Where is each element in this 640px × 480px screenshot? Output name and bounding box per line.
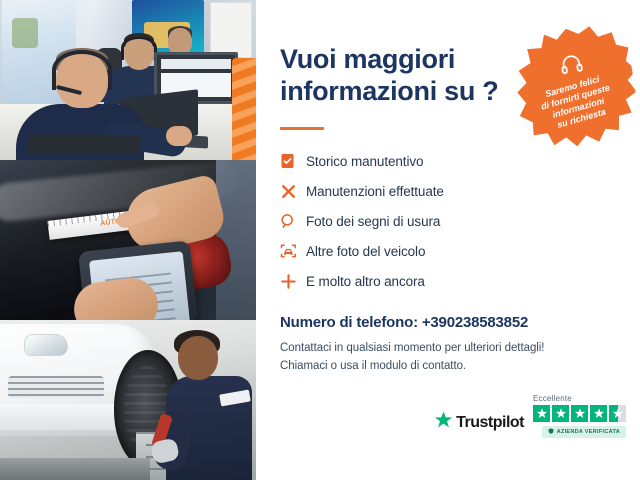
star-filled-1 [533,405,550,422]
star-filled-4 [590,405,607,422]
car-headlight [24,334,68,356]
tools-cross-icon [280,183,306,200]
star-filled-2 [552,405,569,422]
list-item-label: Manutenzioni effettuate [306,184,444,199]
agent-one-headset-icon [52,50,112,90]
content-panel: Vuoi maggiori informazioni su ? Storico … [256,0,640,480]
list-item: E molto altro ancora [280,267,640,296]
vehicle-inspection-photo: AUTOHERO [0,160,256,320]
trustpilot-rating-label: Eccellente [533,394,572,403]
list-item-label: Altre foto del veicolo [306,244,425,259]
list-item-label: Foto dei segni di usura [306,214,440,229]
trustpilot-logo: Trustpilot [434,411,524,438]
agent-one-hand [166,126,192,146]
status-badge: AZIENDA VERIFICATA [542,426,626,438]
plus-icon [280,273,306,290]
headline-line-2: informazioni su ? [280,76,530,108]
car-bumper [0,404,130,430]
trustpilot-widget[interactable]: Trustpilot Eccellente [434,394,626,438]
feature-list: Storico manutentivo Manutenzioni effettu… [280,147,640,296]
photo-column: AUTOHERO [0,0,256,480]
star-filled-3 [571,405,588,422]
keyboard [26,136,142,154]
list-item: Manutenzioni effettuate [280,177,640,206]
orange-display-stand [232,58,256,160]
verified-label: AZIENDA VERIFICATA [557,429,620,435]
trustpilot-rating: Eccellente [533,394,626,438]
car-grille [8,376,104,398]
phone-number[interactable]: +390238583852 [422,314,528,331]
page-title: Vuoi maggiori informazioni su ? [280,44,530,108]
trustpilot-star-icon [434,411,453,434]
callout-badge: Saremo felici di fornirti queste informa… [507,19,640,154]
mechanic-head [178,336,218,380]
trustpilot-wordmark: Trustpilot [456,414,524,432]
headline-line-1: Vuoi maggiori [280,44,530,76]
phone-line: Numero di telefono: +390238583852 [280,314,640,331]
headset-icon [559,52,585,80]
trustpilot-stars [533,405,626,422]
magnifier-icon [280,213,306,229]
subcopy-line-2: Chiamaci o usa il modulo di contatto. [280,358,640,376]
verified-shield-icon [548,428,554,436]
list-item: Foto dei segni di usura [280,207,640,236]
subcopy-line-1: Contattaci in qualsiasi momento per ulte… [280,340,640,358]
star-half-5 [609,405,626,422]
car-lift-ramp [0,458,150,480]
contact-subcopy: Contattaci in qualsiasi momento per ulte… [280,340,640,376]
call-center-agents-photo [0,0,256,160]
badge-text: Saremo felici di fornirti queste informa… [537,71,617,133]
agent-two-headset-icon [121,36,157,60]
document-check-icon [280,153,306,169]
mechanic-tire-photo [0,320,256,480]
badge-content: Saremo felici di fornirti queste informa… [507,19,640,154]
phone-label: Numero di telefono: [280,314,418,331]
car-scan-icon [280,243,306,259]
wall-poster-white [210,2,252,58]
list-item-label: Storico manutentivo [306,154,423,169]
list-item: Altre foto del veicolo [280,237,640,266]
list-item-label: E molto altro ancora [306,274,425,289]
promo-banner: AUTOHERO [0,0,640,480]
title-underline-rule [280,127,324,130]
list-item: Storico manutentivo [280,147,640,176]
